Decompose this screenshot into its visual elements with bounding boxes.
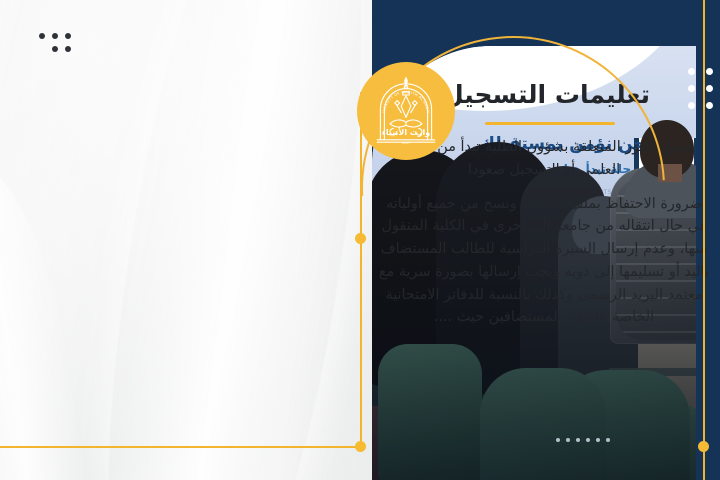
dot: [556, 438, 560, 442]
gold-vertical-line: [360, 92, 362, 448]
background-swoosh-4: [0, 164, 116, 480]
gold-dot-3: [698, 441, 709, 452]
content-panel: [0, 0, 372, 480]
background-swoosh-1: [0, 0, 226, 480]
dot: [65, 33, 71, 39]
instructions-paragraph-2: ضرورة الاحتفاظ بملف الطالب ونسخ من جميع …: [376, 193, 712, 330]
dot: [606, 438, 610, 442]
dot: [576, 438, 580, 442]
dot: [52, 33, 58, 39]
gold-dot-2: [355, 441, 366, 452]
university-logo: UNIVERSITY OF WARITH AL-ANBIYAA وارث الأ…: [357, 62, 455, 160]
title-divider: [485, 122, 615, 125]
instructions-body: جميع الامور المتعلقة بشؤون الطلبة تبدأ م…: [376, 136, 712, 340]
dot: [596, 438, 600, 442]
dot-grid-dark-icon: [39, 33, 71, 52]
logo-arabic-text: وارث الأنبياء: [382, 127, 431, 137]
dot-row-light-icon: [556, 438, 610, 442]
dot: [65, 46, 71, 52]
dot: [706, 102, 713, 109]
dot: [706, 68, 713, 75]
poster-canvas: نحن نؤمن بمستقبلك رحلة تبدأ هنا WE BELIE…: [0, 0, 720, 480]
gold-horizontal-line: [0, 446, 362, 448]
dot: [566, 438, 570, 442]
dot: [52, 46, 58, 52]
warith-al-anbiyaa-emblem-icon: UNIVERSITY OF WARITH AL-ANBIYAA وارث الأ…: [366, 71, 446, 151]
gold-dot-1: [355, 233, 366, 244]
background-swoosh-3: [180, 0, 372, 480]
dot: [688, 68, 695, 75]
gold-vertical-line-right: [703, 0, 705, 480]
dot: [586, 438, 590, 442]
dot: [706, 85, 713, 92]
logo-year-text: 2017: [402, 141, 410, 145]
background-swoosh-2: [62, 0, 372, 480]
dot: [39, 33, 45, 39]
